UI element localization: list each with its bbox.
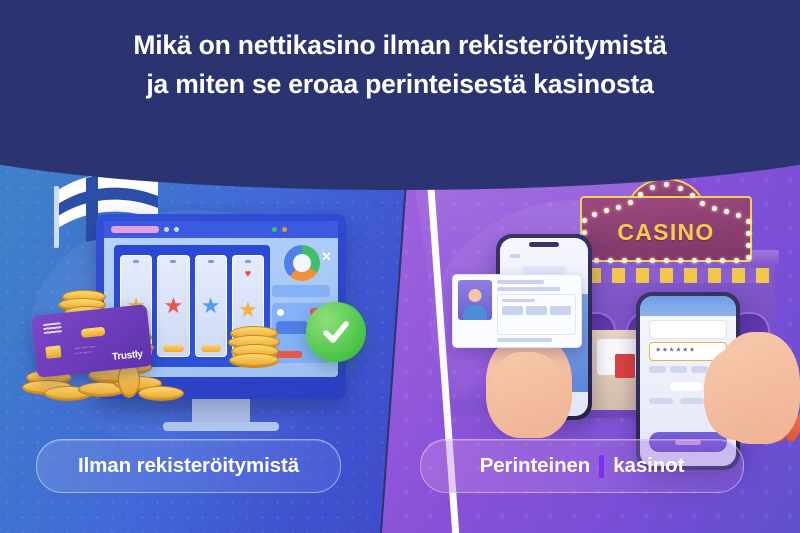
fingers-right (704, 348, 774, 440)
id-form-block (497, 294, 576, 335)
toolbar-dot-4 (282, 227, 287, 232)
id-field-line (497, 287, 560, 291)
coin-stack-small (228, 326, 298, 374)
browser-toolbar (104, 221, 338, 238)
browser-address-bar[interactable] (111, 226, 159, 233)
page-title: Mikä on nettikasino ilman rekisteröitymi… (0, 26, 800, 104)
casino-marquee-sign: CASINO (578, 188, 754, 266)
label-no-registration[interactable]: Ilman rekisteröitymistä (36, 439, 341, 493)
card-brand-label: Trustly (112, 349, 144, 363)
verified-check-badge (306, 302, 366, 362)
heart-icon: ♥ (245, 268, 252, 280)
card-chip-icon (45, 345, 61, 359)
sidebar-toggle-row[interactable] (272, 285, 330, 297)
building-awning-stripe (564, 268, 771, 283)
label-traditional-casino[interactable]: Perinteinen kasinot (420, 439, 744, 493)
label-text-part1: Perinteinen (480, 454, 591, 478)
toolbar-dot-3 (272, 227, 277, 232)
cabinet-symbol (615, 354, 635, 378)
monitor-base (163, 422, 279, 431)
username-field[interactable] (649, 320, 727, 339)
header-banner: Mikä on nettikasino ilman rekisteröitymi… (0, 0, 800, 190)
check-icon (319, 315, 353, 349)
donut-chart (284, 245, 320, 281)
star-icon: ★ (238, 299, 258, 321)
toolbar-dot-1 (164, 227, 169, 232)
identity-card (452, 274, 582, 348)
toolbar-dot-2 (174, 227, 179, 232)
card-stripe-lines (43, 322, 62, 335)
avatar-body (463, 305, 487, 320)
phone-notch (529, 242, 559, 247)
avatar-head (469, 289, 482, 302)
id-field-line (497, 280, 544, 284)
close-icon[interactable]: ✕ (321, 249, 332, 265)
card-magstripe (81, 327, 106, 338)
label-text: Ilman rekisteröitymistä (78, 454, 299, 478)
id-photo-avatar (458, 280, 492, 320)
marquee-bulbs (578, 188, 754, 266)
label-text-part2: kasinot (613, 454, 684, 478)
payment-card: ▫▫▫▫ ▫▫▫▫▫ ▫▫▫▫▫▫ ▫▫ ▫▫▫ ▫▫ Trustly (31, 304, 153, 378)
fingers-left (492, 352, 566, 438)
id-field-line (497, 338, 552, 342)
label-divider-bar (599, 455, 604, 478)
infographic-canvas: ★ ★ ★ ♥ ★ ✕ (0, 0, 800, 533)
status-dot (277, 309, 284, 316)
